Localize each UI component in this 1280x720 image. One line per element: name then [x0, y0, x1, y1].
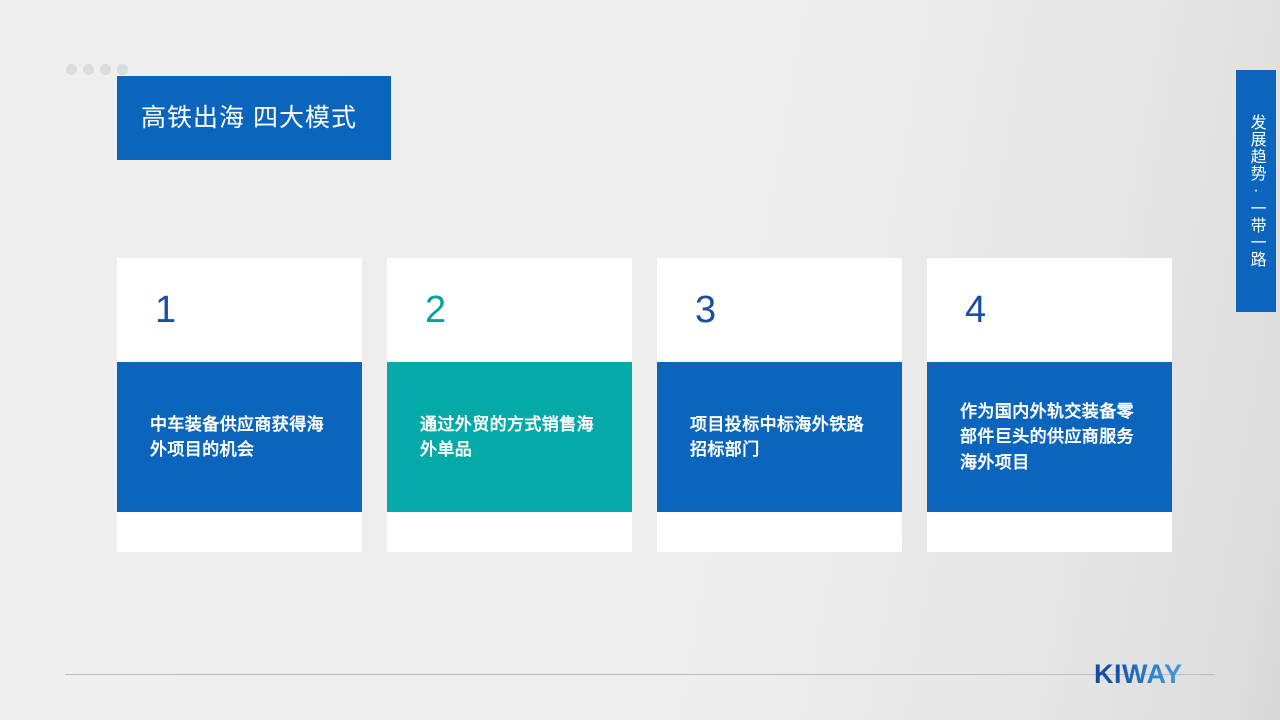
card-text-4: 作为国内外轨交装备零部件巨头的供应商服务海外项目	[960, 399, 1146, 476]
card-text-3: 项目投标中标海外铁路招标部门	[690, 412, 876, 463]
dot-icon	[83, 64, 94, 75]
card-footer-3	[657, 512, 902, 552]
card-footer-4	[927, 512, 1172, 552]
mode-cards-row: 1 中车装备供应商获得海外项目的机会 2 通过外贸的方式销售海外单品 3 项目投…	[117, 258, 1172, 552]
card-number-1: 1	[117, 258, 362, 362]
mode-card-2[interactable]: 2 通过外贸的方式销售海外单品	[387, 258, 632, 552]
dot-icon	[66, 64, 77, 75]
decorative-dots	[66, 64, 128, 75]
card-footer-2	[387, 512, 632, 552]
footer-divider	[65, 674, 1215, 675]
card-number-2: 2	[387, 258, 632, 362]
mode-card-3[interactable]: 3 项目投标中标海外铁路招标部门	[657, 258, 902, 552]
page-title: 高铁出海 四大模式	[141, 103, 357, 133]
card-text-1: 中车装备供应商获得海外项目的机会	[150, 412, 336, 463]
card-band-2: 通过外贸的方式销售海外单品	[387, 362, 632, 512]
card-band-4: 作为国内外轨交装备零部件巨头的供应商服务海外项目	[927, 362, 1172, 512]
slide-canvas: 高铁出海 四大模式 1 中车装备供应商获得海外项目的机会 2 通过外贸的方式销售…	[0, 0, 1280, 720]
kiway-logo: KIWAY	[1094, 659, 1183, 690]
mode-card-4[interactable]: 4 作为国内外轨交装备零部件巨头的供应商服务海外项目	[927, 258, 1172, 552]
card-footer-1	[117, 512, 362, 552]
side-tab-label: 发展趋势·一带一路	[1244, 114, 1267, 268]
mode-card-1[interactable]: 1 中车装备供应商获得海外项目的机会	[117, 258, 362, 552]
card-text-2: 通过外贸的方式销售海外单品	[420, 412, 606, 463]
slide-title-box: 高铁出海 四大模式	[117, 76, 391, 160]
card-band-1: 中车装备供应商获得海外项目的机会	[117, 362, 362, 512]
section-side-tab[interactable]: 发展趋势·一带一路	[1236, 70, 1276, 312]
card-number-4: 4	[927, 258, 1172, 362]
dot-icon	[117, 64, 128, 75]
dot-icon	[100, 64, 111, 75]
card-band-3: 项目投标中标海外铁路招标部门	[657, 362, 902, 512]
card-number-3: 3	[657, 258, 902, 362]
